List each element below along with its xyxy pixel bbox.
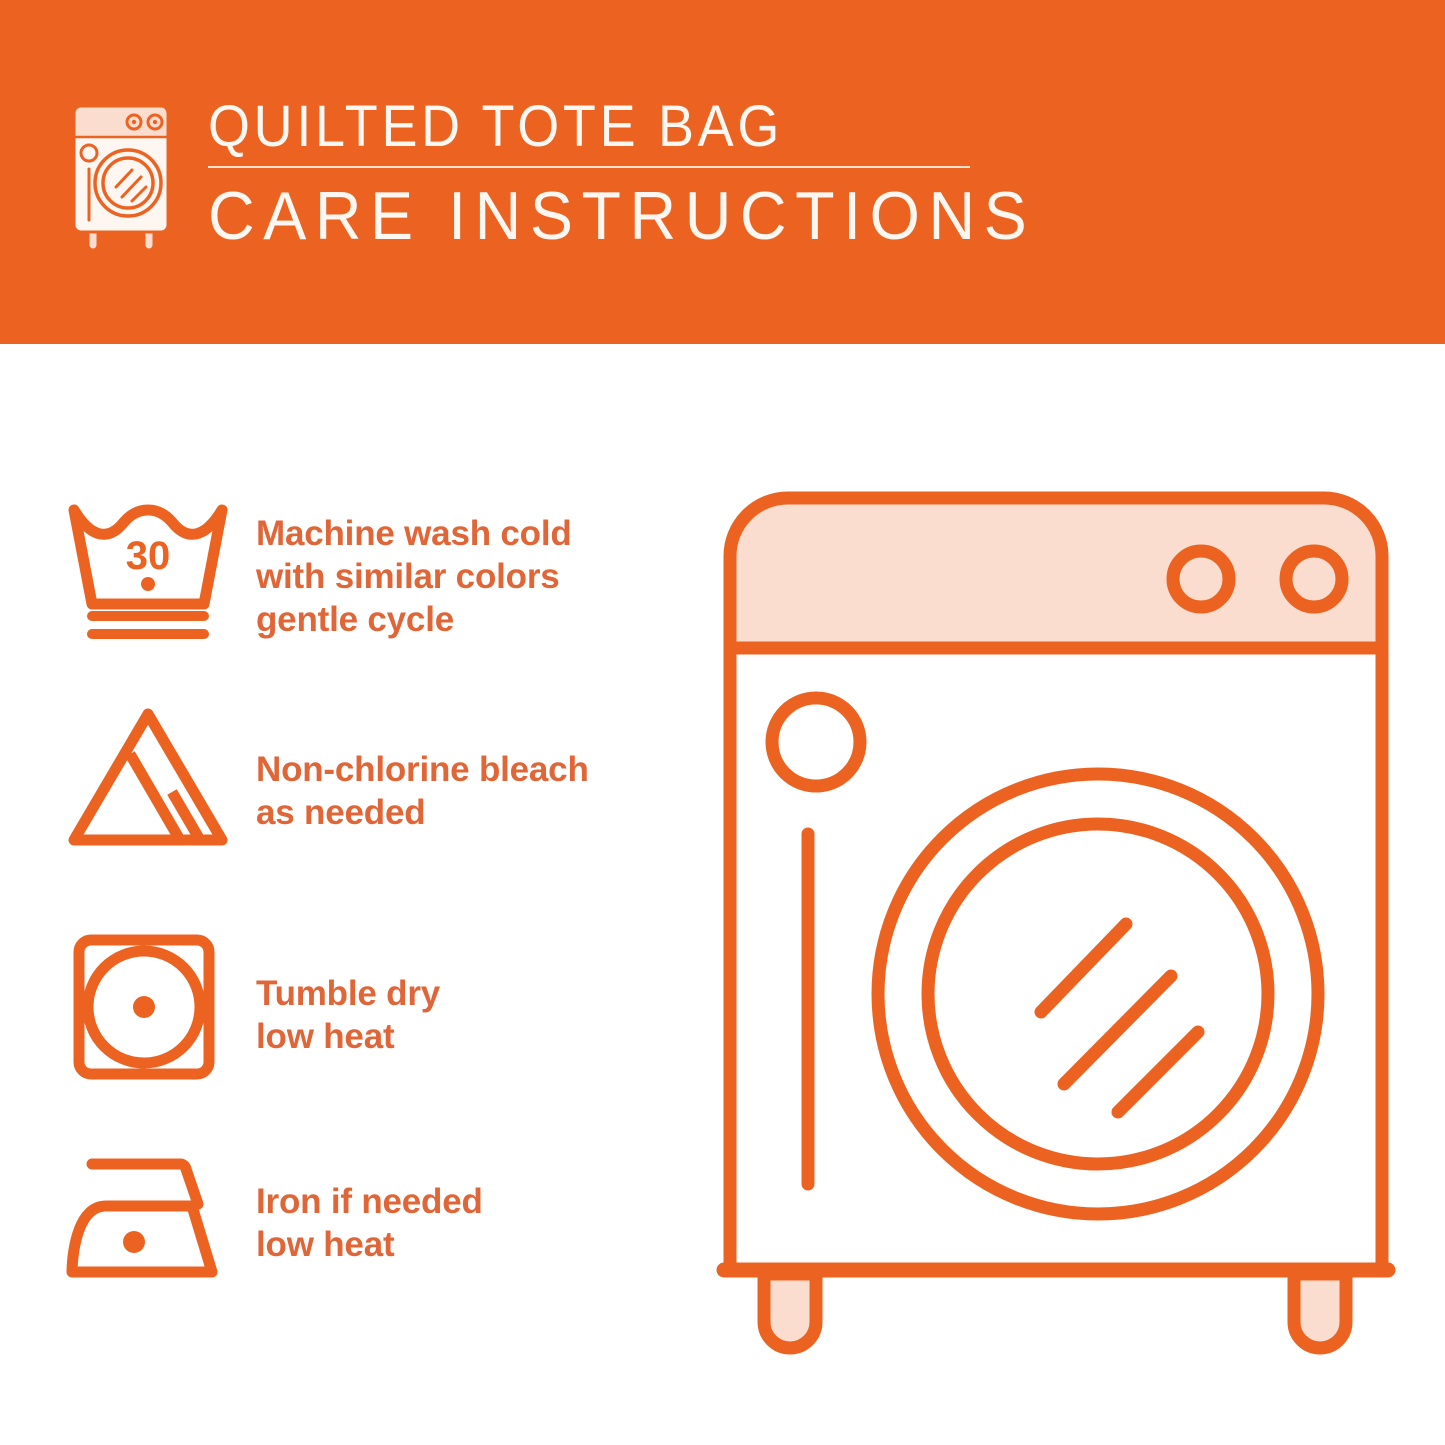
iron-low-heat-icon	[62, 1144, 234, 1294]
page-subtitle: CARE INSTRUCTIONS	[208, 180, 1035, 252]
care-line: low heat	[256, 1223, 483, 1266]
wash-basin-30-gentle-icon: 30	[62, 492, 234, 642]
care-line: Machine wash cold	[256, 512, 572, 555]
care-item-iron: Iron if needed low heat	[62, 1144, 682, 1294]
care-item-label: Tumble dry low heat	[234, 932, 440, 1058]
care-line: as needed	[256, 791, 589, 834]
wash-temperature-label: 30	[126, 534, 171, 578]
washing-machine-logo-icon	[62, 102, 180, 254]
leg-right	[1294, 1274, 1346, 1348]
header-content: QUILTED TOTE BAG CARE INSTRUCTIONS	[62, 96, 1079, 254]
care-line: Tumble dry	[256, 972, 440, 1015]
tumble-dry-low-icon	[62, 932, 234, 1082]
care-line: with similar colors	[256, 555, 572, 598]
care-item-bleach: Non-chlorine bleach as needed	[62, 702, 682, 852]
care-line: Non-chlorine bleach	[256, 748, 589, 791]
title-divider	[208, 166, 970, 168]
page-title: QUILTED TOTE BAG	[208, 96, 1018, 158]
leg-left	[764, 1274, 816, 1348]
care-instructions-list: 30 Machine wash cold with similar colors…	[0, 344, 700, 1445]
care-line: gentle cycle	[256, 598, 572, 641]
care-instructions-page: QUILTED TOTE BAG CARE INSTRUCTIONS 30	[0, 0, 1445, 1445]
care-item-label: Non-chlorine bleach as needed	[234, 702, 589, 834]
non-chlorine-bleach-triangle-icon	[62, 702, 234, 852]
page-header: QUILTED TOTE BAG CARE INSTRUCTIONS	[0, 0, 1445, 344]
front-load-washing-machine-illustration	[716, 484, 1396, 1364]
header-title-block: QUILTED TOTE BAG CARE INSTRUCTIONS	[208, 96, 1079, 252]
care-line: low heat	[256, 1015, 440, 1058]
care-item-tumble-dry: Tumble dry low heat	[62, 932, 682, 1082]
care-line: Iron if needed	[256, 1180, 483, 1223]
care-item-machine-wash: 30 Machine wash cold with similar colors…	[62, 492, 682, 642]
care-item-label: Machine wash cold with similar colors ge…	[234, 492, 572, 641]
care-item-label: Iron if needed low heat	[234, 1144, 483, 1266]
